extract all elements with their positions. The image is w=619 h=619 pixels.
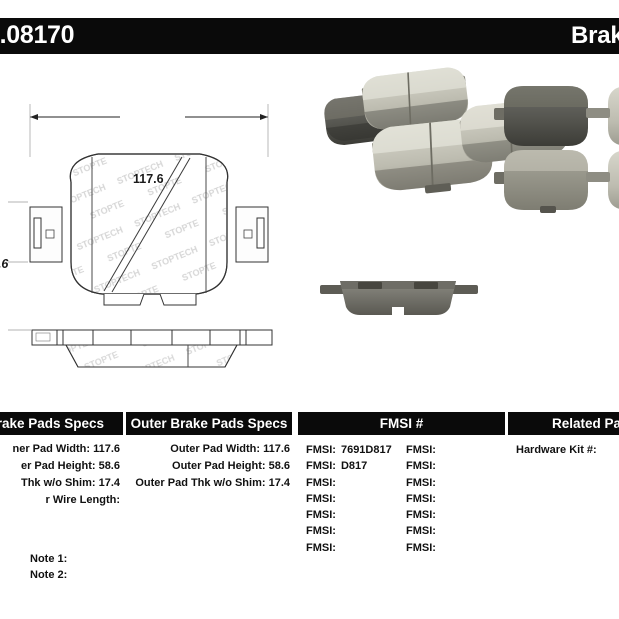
fmsi-header: FMSI # xyxy=(298,412,505,435)
fmsi-row: FMSI: xyxy=(406,490,441,506)
width-dimension-line xyxy=(30,104,268,157)
outer-pad-width: Outer Pad Width: 117.6 xyxy=(128,441,290,458)
fmsi-label: FMSI: xyxy=(306,525,336,537)
header-bar: 1.08170 Brake P xyxy=(0,18,619,54)
related-parts-header: Related Par xyxy=(508,412,619,435)
fmsi-row: FMSI: xyxy=(406,441,441,457)
inner-pad-height: er Pad Height: 58.6 xyxy=(0,458,120,475)
fmsi-label: FMSI: xyxy=(406,460,436,472)
photo-edge-view xyxy=(320,281,478,315)
fmsi-label: FMSI: xyxy=(406,477,436,489)
fmsi-row: FMSI: xyxy=(406,539,441,555)
fmsi-panel: FMSI # FMSI:7691D817 FMSI:D817 FMSI: FMS… xyxy=(298,412,505,561)
related-parts-list: Hardware Kit #: xyxy=(508,442,619,459)
fmsi-label: FMSI: xyxy=(406,509,436,521)
fmsi-label: FMSI: xyxy=(406,525,436,537)
fmsi-row: FMSI:7691D817 xyxy=(306,441,392,457)
related-parts-panel: Related Par Hardware Kit #: xyxy=(508,412,619,459)
fmsi-label: FMSI: xyxy=(406,542,436,554)
sensor-wire-length: r Wire Length: xyxy=(0,492,120,509)
fmsi-row: FMSI: xyxy=(306,522,392,538)
fmsi-label: FMSI: xyxy=(406,493,436,505)
fmsi-column-b: FMSI: FMSI: FMSI: FMSI: FMSI: FMSI: FMSI… xyxy=(406,441,441,555)
inner-pad-width: ner Pad Width: 117.6 xyxy=(0,441,120,458)
note-2: Note 2: xyxy=(30,567,330,583)
fmsi-label: FMSI: xyxy=(306,493,336,505)
pad-outline-drawing: STOPTECH STOPTECH xyxy=(0,62,300,392)
fmsi-label: FMSI: xyxy=(306,460,336,472)
fmsi-row: FMSI: xyxy=(306,474,392,490)
outer-specs-header: Outer Brake Pads Specs xyxy=(126,412,292,435)
fmsi-row: FMSI: xyxy=(306,490,392,506)
brake-pads-specs-panel: Brake Pads Specs Outer Brake Pads Specs … xyxy=(0,412,292,513)
brake-pads-photo xyxy=(298,62,619,392)
part-number: 1.08170 xyxy=(0,21,74,50)
fmsi-row: FMSI: xyxy=(406,474,441,490)
fmsi-label: FMSI: xyxy=(406,444,436,456)
technical-drawing: STOPTECH STOPTECH xyxy=(0,62,300,392)
fmsi-label: FMSI: xyxy=(306,477,336,489)
outer-pad-thickness: Outer Pad Thk w/o Shim: 17.4 xyxy=(128,475,290,492)
hardware-kit-number: Hardware Kit #: xyxy=(516,442,619,459)
fmsi-column-a: FMSI:7691D817 FMSI:D817 FMSI: FMSI: FMSI… xyxy=(306,441,392,555)
inner-specs-header: Brake Pads Specs xyxy=(0,412,123,435)
inner-pad-thickness: Thk w/o Shim: 17.4 xyxy=(0,475,120,492)
pad-edge-view xyxy=(8,330,272,367)
page-title: Brake P xyxy=(571,22,619,50)
height-dimension-line xyxy=(8,202,28,262)
fmsi-row: FMSI: xyxy=(406,506,441,522)
fmsi-row: FMSI: xyxy=(306,506,392,522)
outer-specs-list: Outer Pad Width: 117.6 Outer Pad Height:… xyxy=(128,441,290,492)
brake-pad-spec-sheet: 1.08170 Brake P STOPTECH STOPTECH xyxy=(0,0,619,619)
dimension-width-label: 117.6 xyxy=(133,172,164,186)
fmsi-row: FMSI: xyxy=(406,522,441,538)
fmsi-value: 7691D817 xyxy=(341,444,392,456)
outer-pad-height: Outer Pad Height: 58.6 xyxy=(128,458,290,475)
fmsi-row: FMSI: xyxy=(406,457,441,473)
fmsi-row: FMSI:D817 xyxy=(306,457,392,473)
notes-section: Note 1: Note 2: xyxy=(30,551,330,583)
product-photos xyxy=(298,62,619,392)
fmsi-value: D817 xyxy=(341,460,367,472)
dimension-height-label: 8.6 xyxy=(0,257,8,271)
inner-specs-list: ner Pad Width: 117.6 er Pad Height: 58.6… xyxy=(0,441,120,509)
fmsi-label: FMSI: xyxy=(306,509,336,521)
note-1: Note 1: xyxy=(30,551,330,567)
fmsi-label: FMSI: xyxy=(306,444,336,456)
